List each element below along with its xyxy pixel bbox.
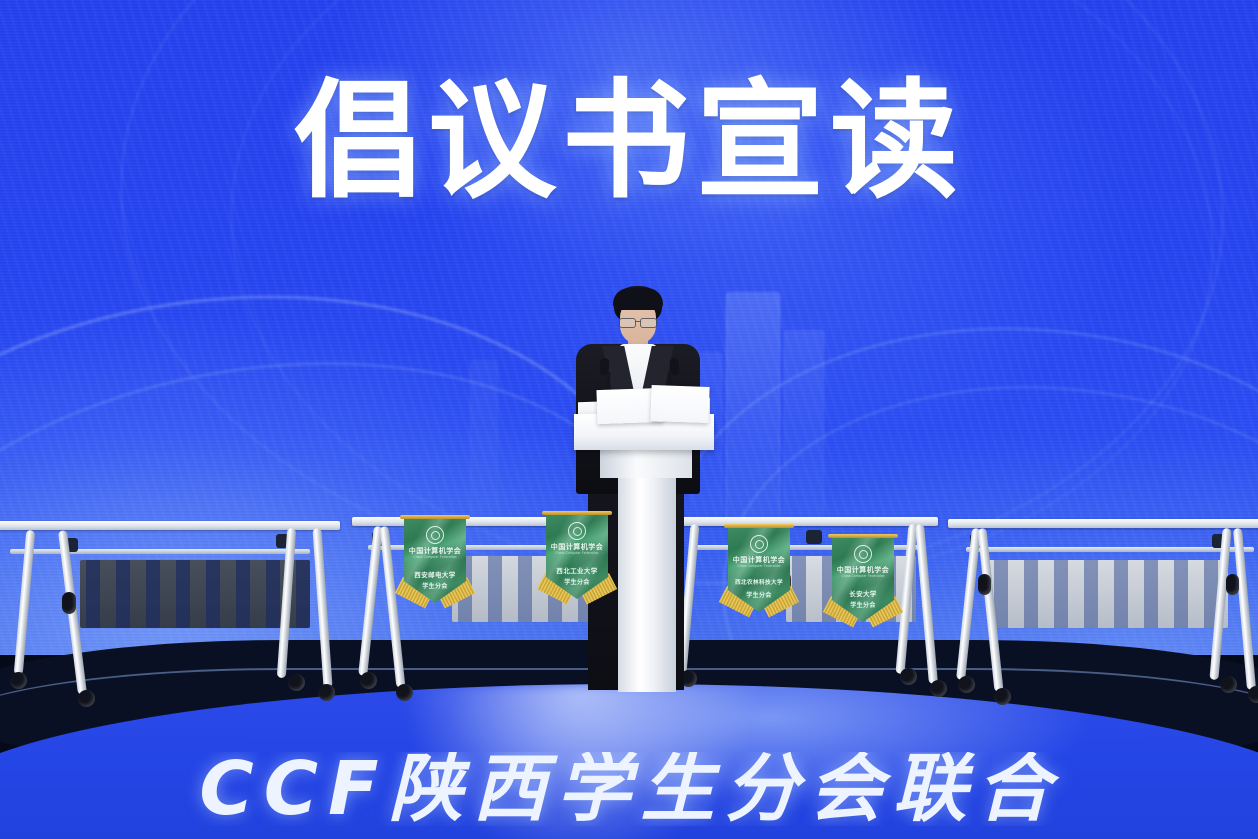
pennant-rod-icon: [542, 511, 612, 515]
reading-script-right: [650, 385, 709, 423]
stage-photo: 倡议书宣读: [0, 0, 1258, 839]
speaker-hair-fringe: [613, 288, 663, 310]
screen-headline: 倡议书宣读: [0, 78, 1258, 206]
pennant-northwest-a-and-f: 中国计算机学会 China Computer Federation 西北农林科技…: [728, 528, 790, 612]
pennant-rod-icon: [724, 524, 794, 528]
pennant-changan-university: 中国计算机学会 China Computer Federation 长安大学 学…: [832, 538, 894, 622]
lectern-column: [618, 470, 676, 692]
lectern-neck: [600, 448, 692, 478]
pennant-xian-university-of-posts: 中国计算机学会 China Computer Federation 西安邮电大学…: [404, 519, 466, 603]
floor-banner-text: CCF陕西学生分会联合: [0, 752, 1258, 826]
pennant-rod-icon: [828, 534, 898, 538]
pennant-northwestern-polytechnical: 中国计算机学会 China Computer Federation 西北工业大学…: [546, 515, 608, 599]
speaker-glasses: [619, 318, 657, 326]
pennant-rod-icon: [400, 515, 470, 519]
